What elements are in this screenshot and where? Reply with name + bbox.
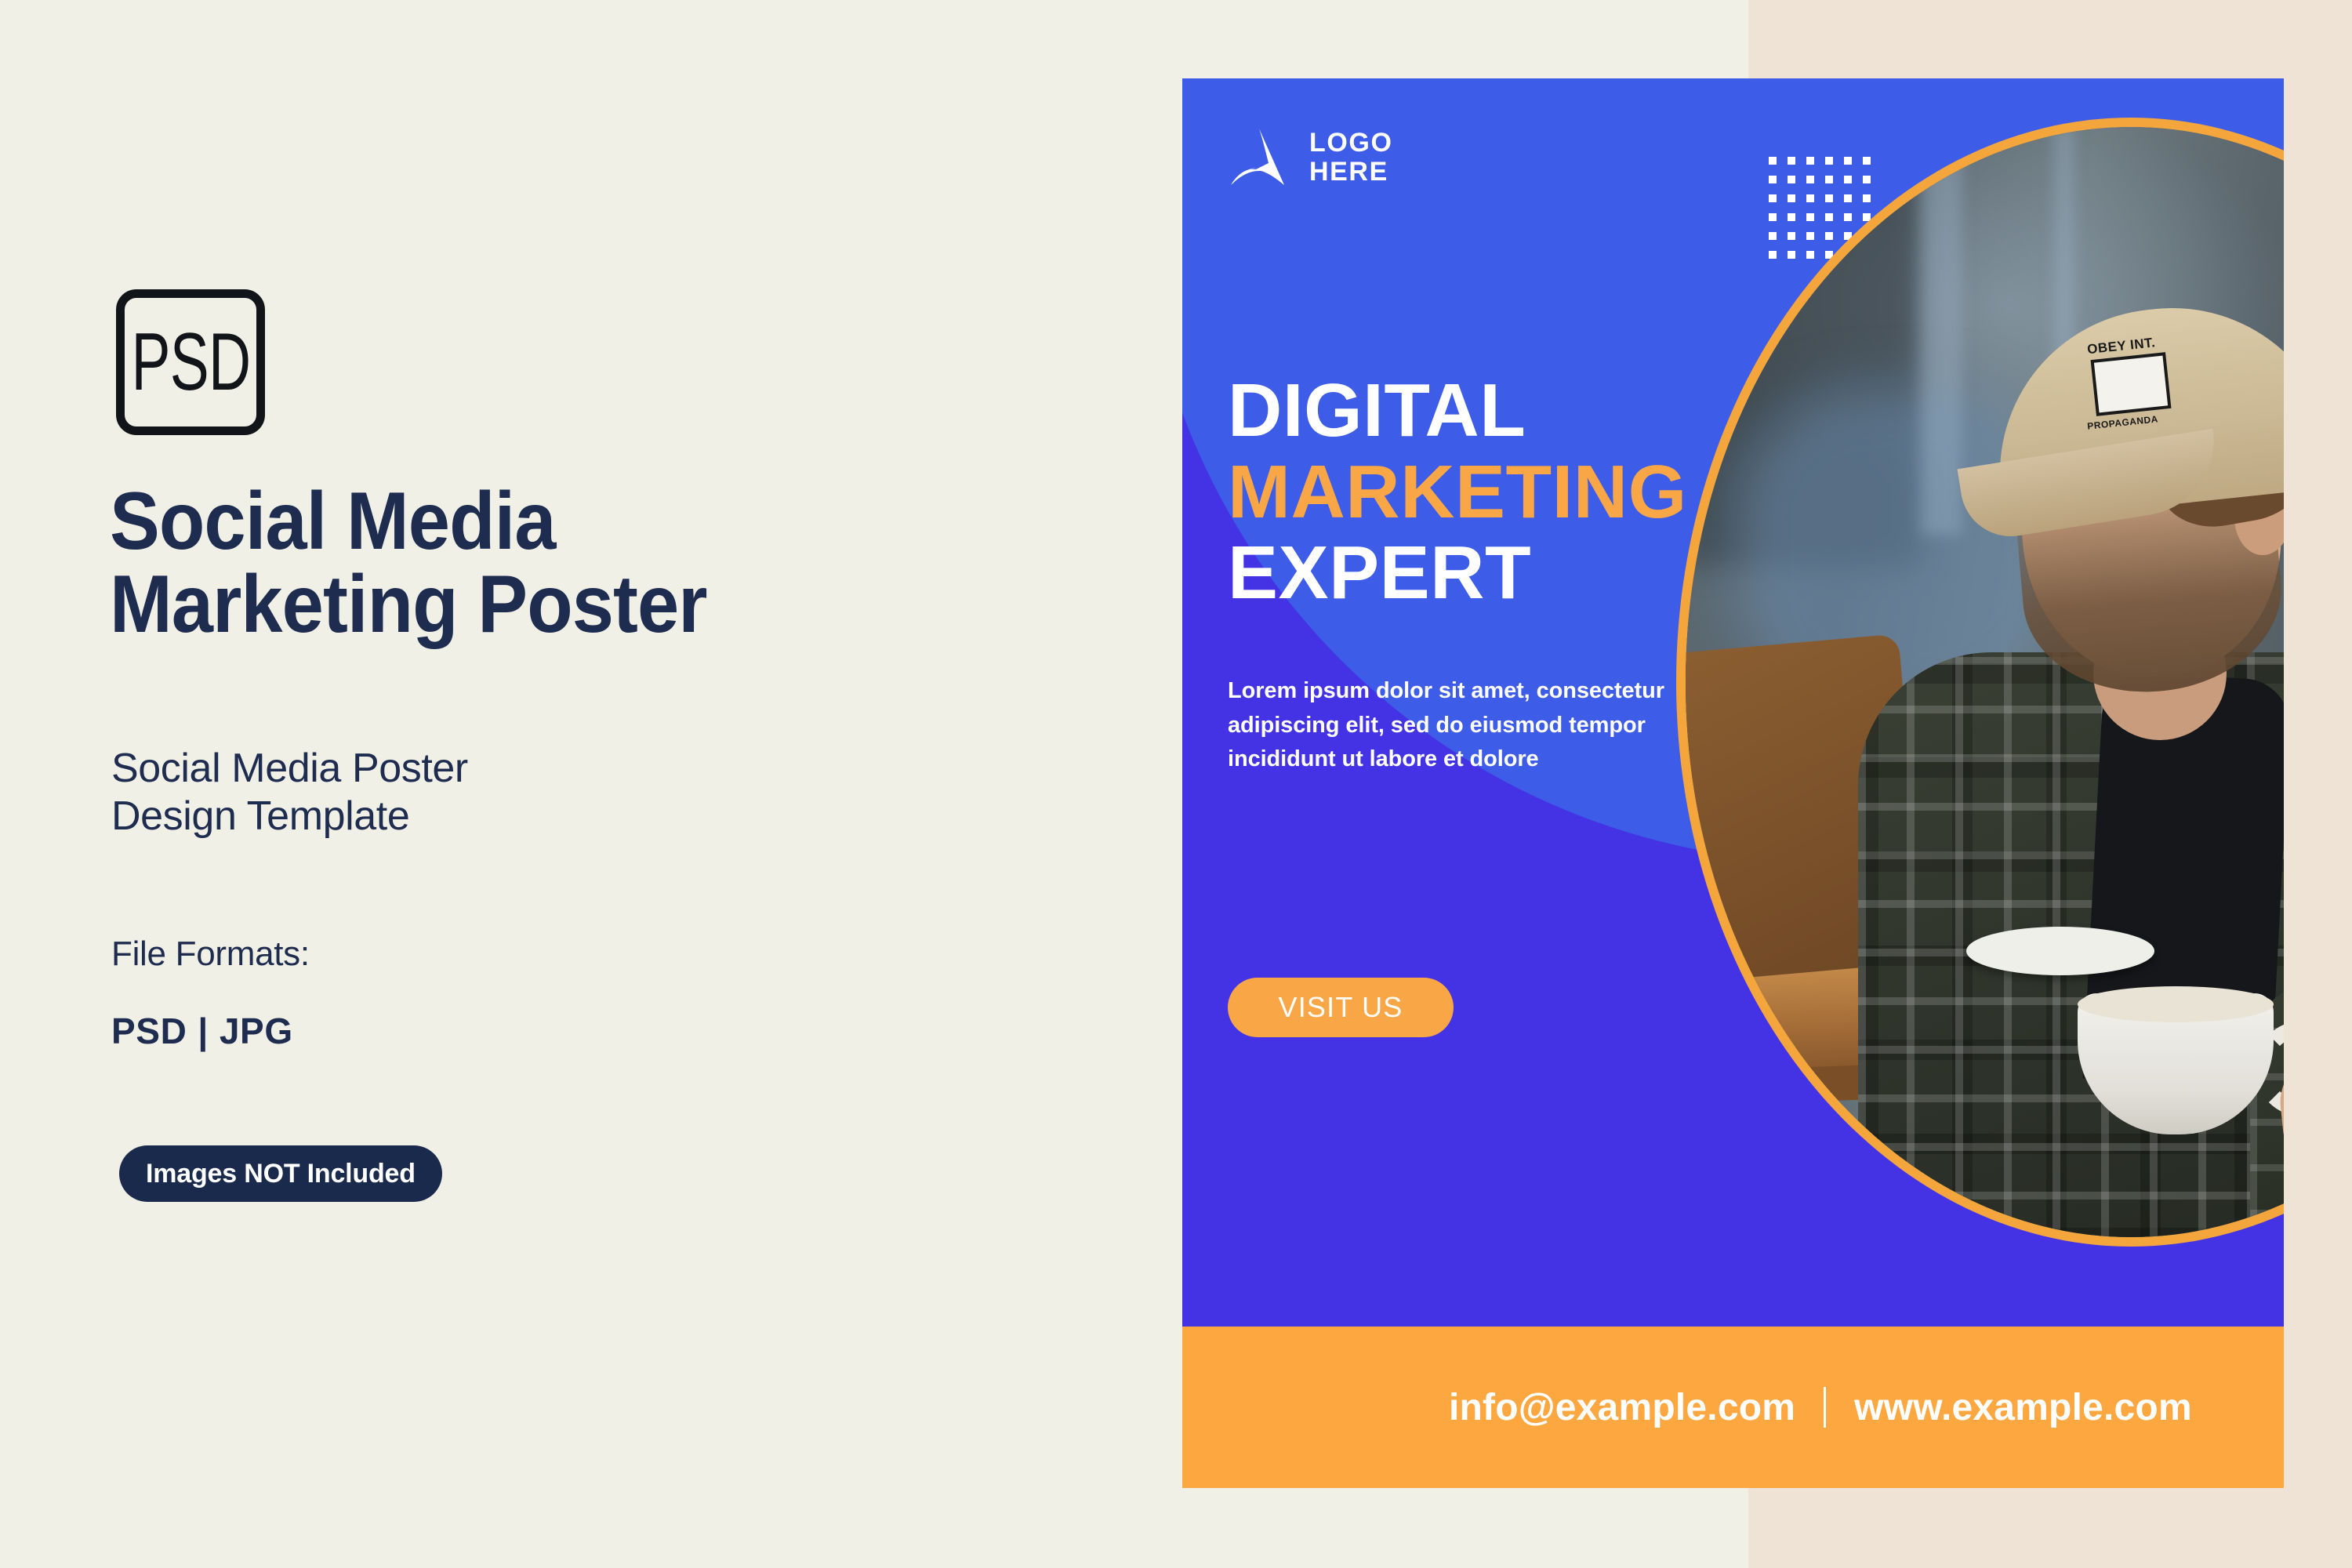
photo-bg-light-bar-1 [1921, 127, 1962, 535]
page-title: Social Media Marketing Poster [110, 480, 1018, 646]
poster-logo[interactable]: LOGO HERE [1229, 127, 1393, 188]
file-formats-value: PSD|JPG [111, 1010, 293, 1052]
poster-footer-email[interactable]: info@example.com [1449, 1386, 1795, 1429]
page-subtitle: Social Media Poster Design Template [111, 745, 817, 841]
file-format-jpg: JPG [220, 1011, 293, 1051]
poster-body-line-1: Lorem ipsum dolor sit amet, consectetur [1228, 674, 1714, 709]
poster-footer-separator [1824, 1387, 1826, 1428]
photo-cap-patch [2091, 352, 2172, 416]
poster-headline: DIGITAL MARKETING EXPERT [1228, 370, 1687, 614]
file-format-psd: PSD [111, 1011, 187, 1051]
poster-body-line-3: incididunt ut labore et dolore [1228, 742, 1714, 777]
poster-logo-line-1: LOGO [1309, 128, 1393, 158]
product-info-column: PSD Social Media Marketing Poster Social… [0, 0, 1137, 1568]
poster-contact-info: info@example.com www.example.com [1449, 1386, 2192, 1429]
psd-file-badge: PSD [116, 289, 265, 435]
poster-logo-text: LOGO HERE [1309, 129, 1393, 186]
photo-saucer [1966, 927, 2154, 975]
poster-body-copy: Lorem ipsum dolor sit amet, consectetur … [1228, 674, 1714, 777]
photo-cup-rim [2078, 986, 2274, 1022]
images-not-included-badge: Images NOT Included [119, 1145, 442, 1202]
photo-orange-ring: OBEY INT. PROPAGANDA [1676, 118, 2284, 1247]
poster-headline-line-1: DIGITAL [1228, 370, 1687, 452]
page-title-line-1: Social Media [110, 476, 556, 567]
visit-us-button[interactable]: VISIT US [1228, 978, 1454, 1037]
poster-footer-bar: info@example.com www.example.com [1182, 1327, 2284, 1488]
file-format-separator: | [187, 1011, 219, 1051]
psd-badge-label: PSD [131, 321, 250, 403]
poster-photo: OBEY INT. PROPAGANDA [1686, 127, 2284, 1237]
poster-headline-line-3: EXPERT [1228, 532, 1687, 614]
page-subtitle-line-1: Social Media Poster [111, 746, 468, 791]
images-not-included-label: Images NOT Included [146, 1159, 416, 1189]
poster-logo-line-2: HERE [1309, 158, 1393, 187]
photo-background: OBEY INT. PROPAGANDA [1686, 127, 2284, 1237]
poster-preview: LOGO HERE [1182, 78, 2284, 1488]
screenshot-root: PSD Social Media Marketing Poster Social… [0, 0, 2352, 1568]
file-formats-label: File Formats: [111, 935, 310, 974]
page-subtitle-line-2: Design Template [111, 793, 817, 840]
page-title-line-2: Marketing Poster [110, 563, 1018, 646]
poster-footer-website[interactable]: www.example.com [1854, 1386, 2192, 1429]
poster-headline-line-2: MARKETING [1228, 452, 1687, 533]
poster-body-line-2: adipiscing elit, sed do eiusmod tempor [1228, 709, 1714, 743]
mountain-arrow-logo-icon [1229, 127, 1289, 188]
